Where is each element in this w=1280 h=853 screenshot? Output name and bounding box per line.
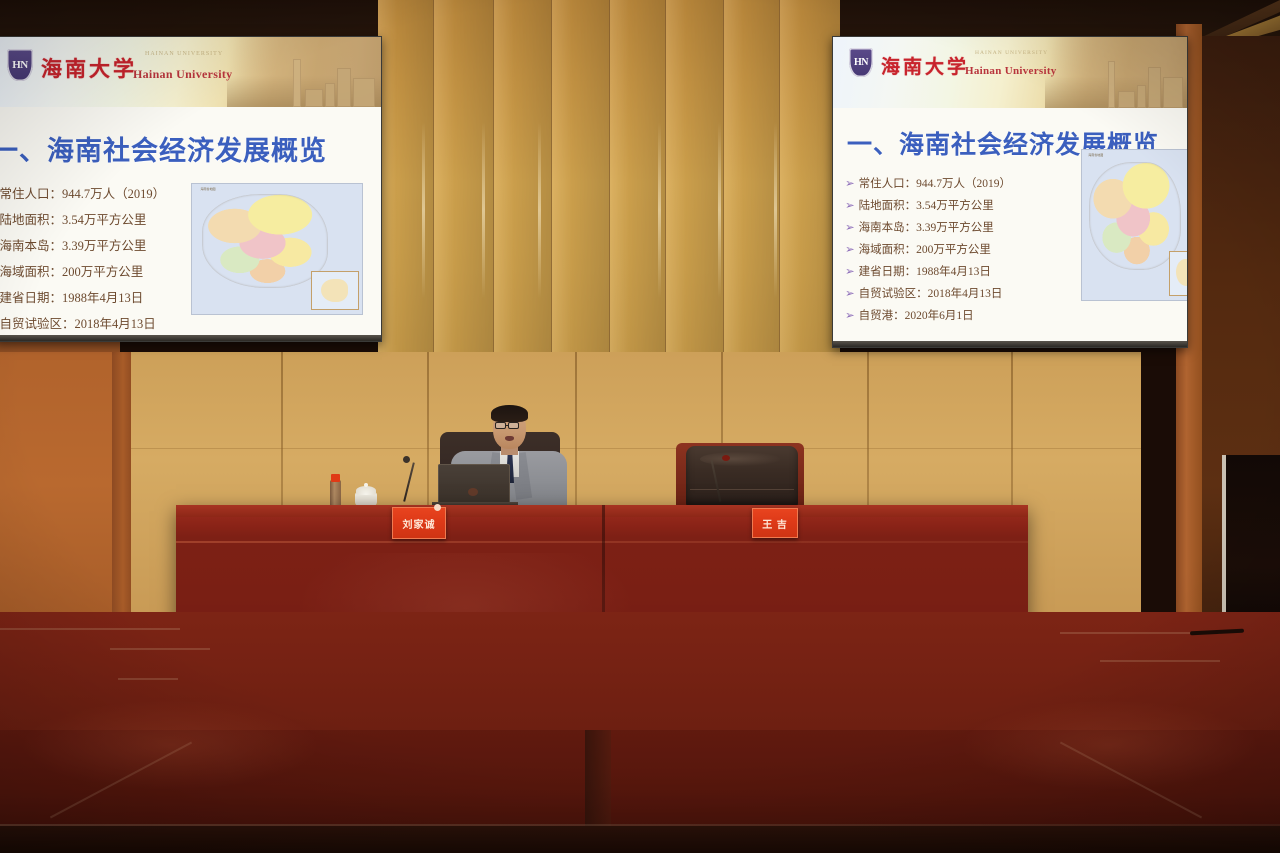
- nameplate-left: 刘家诚: [392, 507, 446, 539]
- map-caption: 海南省地图: [201, 187, 216, 191]
- bullet-item: ➢ 海南本岛 ： 3.39万平方公里: [0, 235, 165, 254]
- bullet-sep: ：: [50, 261, 63, 280]
- bullet-item: ➢ 陆地面积 ： 3.54万平方公里: [0, 209, 165, 228]
- wall-slat-panels: [378, 0, 840, 382]
- bullet-marker-icon: ➢: [845, 286, 855, 300]
- floor-light-spot: [20, 700, 320, 790]
- bullet-marker-icon: ➢: [845, 198, 855, 212]
- bullet-value: 944.7万人（2019）: [62, 183, 165, 202]
- hainan-map-image-right: 海南省地图: [1081, 149, 1188, 301]
- bullet-marker-icon: ➢: [845, 308, 855, 322]
- bullet-value: 200万平方公里: [916, 241, 991, 257]
- bullet-label: 建省日期: [0, 287, 50, 306]
- bullet-value: 3.54万平方公里: [916, 197, 994, 213]
- slide-banner-right: HN 海南大学 HAINAN UNIVERSITY Hainan Univers…: [833, 37, 1187, 108]
- slide-right: HN 海南大学 HAINAN UNIVERSITY Hainan Univers…: [833, 37, 1187, 347]
- banner-faint-text: HAINAN UNIVERSITY: [145, 51, 223, 57]
- slide-banner-left: HN 海南大学 HAINAN UNIVERSITY Hainan Univers…: [0, 37, 381, 107]
- bullet-item: ➢ 自贸港 ： 2020年6月1日: [845, 307, 1011, 323]
- bullet-label: 陆地面积: [859, 197, 905, 213]
- bullet-label: 建省日期: [859, 263, 905, 279]
- bullet-item: ➢ 常住人口 ： 944.7万人（2019）: [0, 183, 165, 202]
- bullet-marker-icon: ➢: [845, 220, 855, 234]
- university-name-en: Hainan University: [133, 67, 232, 82]
- chair-seam: [690, 489, 794, 490]
- bullet-sep: ：: [50, 287, 63, 306]
- bullet-sep: ：: [50, 209, 63, 228]
- nameplate-clip-icon: [434, 504, 441, 511]
- bullet-item: ➢ 海域面积 ： 200万平方公里: [845, 241, 1011, 257]
- bullet-sep: ：: [893, 307, 905, 323]
- hainan-map-image-left: 海南省地图: [191, 183, 363, 315]
- stage-center-step: [585, 730, 611, 828]
- bullet-sep: ：: [50, 235, 63, 254]
- bullet-value: 1988年4月13日: [62, 287, 143, 306]
- lecture-hall-photo: HN 海南大学 HAINAN UNIVERSITY Hainan Univers…: [0, 0, 1280, 853]
- water-bottle-cap: [331, 474, 340, 482]
- banner-campus-photo: [1045, 37, 1187, 108]
- glasses-bridge-icon: [506, 425, 509, 426]
- banner-campus-photo: [227, 37, 381, 107]
- bullet-label: 自贸试验区: [859, 285, 917, 301]
- bullet-sep: ：: [62, 313, 75, 332]
- bullet-item: ➢ 海域面积 ： 200万平方公里: [0, 261, 165, 280]
- bullet-value: 3.54万平方公里: [62, 209, 146, 228]
- floor-seam: [110, 648, 210, 650]
- bullet-sep: ：: [905, 219, 917, 235]
- bullet-label: 陆地面积: [0, 209, 50, 228]
- microphone-left-head: [403, 456, 410, 463]
- bullet-value: 1988年4月13日: [916, 263, 991, 279]
- bullet-value: 3.39万平方公里: [62, 235, 146, 254]
- bullet-label: 海南本岛: [0, 235, 50, 254]
- glasses-lens-left-icon: [495, 422, 506, 429]
- bullet-value: 200万平方公里: [62, 261, 143, 280]
- bullet-sep: ：: [905, 197, 917, 213]
- glasses-lens-right-icon: [508, 422, 519, 429]
- bullet-label: 海域面积: [859, 241, 905, 257]
- stage-front-lip: [0, 826, 1280, 853]
- bullet-value: 2018年4月13日: [928, 285, 1003, 301]
- bullet-marker-icon: ➢: [845, 242, 855, 256]
- floor-seam: [118, 678, 178, 680]
- bullet-marker-icon: ➢: [845, 264, 855, 278]
- bullet-value: 944.7万人（2019）: [916, 175, 1011, 191]
- bullet-label: 自贸港: [859, 307, 894, 323]
- bullet-label: 常住人口: [0, 183, 50, 202]
- bullet-sep: ：: [905, 175, 917, 191]
- floor-seam: [1100, 660, 1220, 662]
- bullet-label: 自贸试验区: [0, 313, 62, 332]
- screen-bottom-bar-left: [0, 335, 381, 341]
- bullet-label: 海南本岛: [859, 219, 905, 235]
- bullet-label: 海域面积: [0, 261, 50, 280]
- bullet-value: 2020年6月1日: [905, 307, 974, 323]
- map-caption: 海南省地图: [1088, 153, 1103, 157]
- microphone-right-head: [722, 455, 730, 461]
- banner-faint-text: HAINAN UNIVERSITY: [975, 50, 1048, 56]
- bullet-item: ➢ 常住人口 ： 944.7万人（2019）: [845, 175, 1011, 191]
- laptop-logo-icon: [468, 488, 478, 496]
- university-name-en: Hainan University: [965, 65, 1057, 77]
- bullet-item: ➢ 建省日期 ： 1988年4月13日: [845, 263, 1011, 279]
- bullet-sep: ：: [905, 241, 917, 257]
- bullet-sep: ：: [905, 263, 917, 279]
- teacup-knob: [364, 483, 368, 487]
- teacup-lid: [356, 486, 376, 495]
- laptop-screen: [438, 464, 510, 504]
- bullet-marker-icon: ➢: [845, 176, 855, 190]
- bullet-sep: ：: [50, 183, 63, 202]
- university-name-cn: 海南大学: [881, 52, 969, 79]
- bullet-value: 2018年4月13日: [75, 313, 156, 332]
- bullet-item: ➢ 自贸试验区 ： 2018年4月13日: [845, 285, 1011, 301]
- university-name-cn: 海南大学: [41, 53, 137, 83]
- slide-bullets-right: ➢ 常住人口 ： 944.7万人（2019） ➢ 陆地面积 ： 3.54万平方公…: [845, 175, 1011, 323]
- projection-screen-left: HN 海南大学 HAINAN UNIVERSITY Hainan Univers…: [0, 36, 382, 342]
- floor-seam: [0, 628, 180, 630]
- speaker-mouth: [505, 436, 514, 441]
- screen-bottom-bar-right: [833, 341, 1187, 347]
- slide-bullets-left: ➢ 常住人口 ： 944.7万人（2019） ➢ 陆地面积 ： 3.54万平方公…: [0, 183, 165, 342]
- bullet-sep: ：: [916, 285, 928, 301]
- bullet-item: ➢ 自贸试验区 ： 2018年4月13日: [0, 313, 165, 332]
- slide-title-left: 一、海南社会经济发展概览: [0, 129, 327, 168]
- nameplate-right: 王 吉: [752, 508, 798, 538]
- floor-light-spot: [960, 700, 1260, 790]
- university-shield-icon: HN: [7, 49, 33, 81]
- speaker-hair: [491, 405, 528, 422]
- university-shield-icon: HN: [849, 48, 873, 77]
- bullet-item: ➢ 海南本岛 ： 3.39万平方公里: [845, 219, 1011, 235]
- bullet-value: 3.39万平方公里: [916, 219, 994, 235]
- slide-left: HN 海南大学 HAINAN UNIVERSITY Hainan Univers…: [0, 37, 381, 341]
- bullet-item: ➢ 陆地面积 ： 3.54万平方公里: [845, 197, 1011, 213]
- bullet-label: 常住人口: [859, 175, 905, 191]
- bullet-item: ➢ 建省日期 ： 1988年4月13日: [0, 287, 165, 306]
- projection-screen-right: HN 海南大学 HAINAN UNIVERSITY Hainan Univers…: [832, 36, 1188, 348]
